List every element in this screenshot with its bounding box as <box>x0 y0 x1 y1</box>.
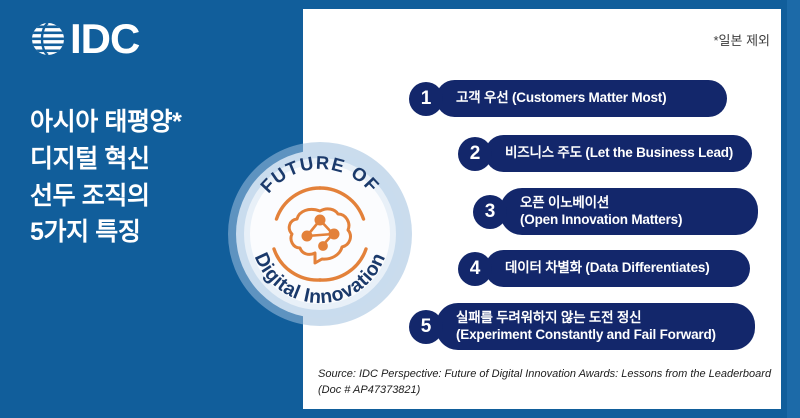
list-item-line-2: (Experiment Constantly and Fail Forward) <box>456 326 716 343</box>
list-item-pill[interactable]: 오픈 이노베이션 (Open Innovation Matters) <box>500 188 758 235</box>
source-line-1: Source: IDC Perspective: Future of Digit… <box>318 367 778 383</box>
list-item-line-2: (Open Innovation Matters) <box>520 211 682 228</box>
slide-root: IDC 아시아 태평양* 디지털 혁신 선두 조직의 5가지 특징 *일본 제외… <box>0 0 800 418</box>
list-item-pill[interactable]: 비즈니스 주도 (Let the Business Lead) <box>485 135 752 172</box>
headline-line-1: 아시아 태평양* <box>30 104 280 141</box>
idc-logo-text: IDC <box>70 18 139 60</box>
list-item-pill[interactable]: 실패를 두려워하지 않는 도전 정신 (Experiment Constantl… <box>436 303 755 350</box>
list-item-number: 1 <box>409 82 443 116</box>
list-item[interactable]: 3 오픈 이노베이션 (Open Innovation Matters) <box>473 188 758 235</box>
list-item-line-1: 데이터 차별화 (Data Differentiates) <box>505 259 710 276</box>
list-item-number: 2 <box>458 137 492 171</box>
list-item[interactable]: 2 비즈니스 주도 (Let the Business Lead) <box>458 135 752 172</box>
list-item-pill[interactable]: 고객 우선 (Customers Matter Most) <box>436 80 727 117</box>
list-item[interactable]: 1 고객 우선 (Customers Matter Most) <box>409 80 727 117</box>
characteristics-list: 1 고객 우선 (Customers Matter Most) 2 비즈니스 주… <box>303 70 781 350</box>
striped-globe-icon <box>28 19 68 59</box>
list-item-line-1: 고객 우선 (Customers Matter Most) <box>456 89 666 106</box>
source-citation: Source: IDC Perspective: Future of Digit… <box>318 367 778 398</box>
list-item-line-1: 비즈니스 주도 (Let the Business Lead) <box>505 144 733 161</box>
list-item-line-1: 오픈 이노베이션 <box>520 194 682 211</box>
list-item-line-1: 실패를 두려워하지 않는 도전 정신 <box>456 309 716 326</box>
list-item-number: 5 <box>409 310 443 344</box>
right-edge-strip <box>787 0 800 418</box>
list-item[interactable]: 4 데이터 차별화 (Data Differentiates) <box>458 250 750 287</box>
list-item-number: 3 <box>473 195 507 229</box>
list-item-number: 4 <box>458 252 492 286</box>
idc-logo: IDC <box>28 18 139 60</box>
list-item[interactable]: 5 실패를 두려워하지 않는 도전 정신 (Experiment Constan… <box>409 303 755 350</box>
footnote-excluding-japan: *일본 제외 <box>600 30 770 49</box>
list-item-pill[interactable]: 데이터 차별화 (Data Differentiates) <box>485 250 750 287</box>
source-line-2: (Doc # AP47373821) <box>318 383 778 399</box>
